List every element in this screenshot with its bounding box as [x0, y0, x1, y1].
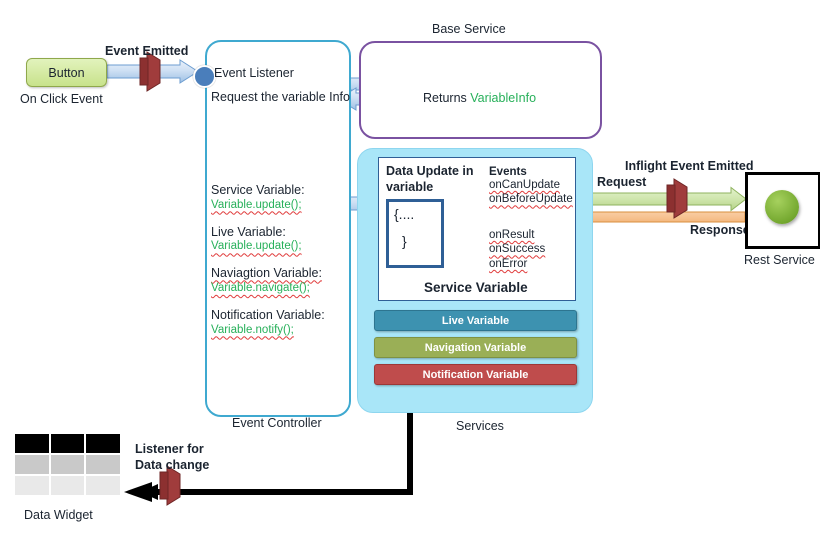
events-post-list: onResult onSuccess onError: [489, 228, 545, 271]
table-row: [51, 434, 85, 453]
returns-prefix: Returns: [423, 91, 470, 105]
list-item: Live Variable: Variable.update();: [211, 225, 325, 253]
on-click-event-label: On Click Event: [20, 92, 103, 108]
event-name: onBeforeUpdate: [489, 192, 573, 206]
request-label: Request: [597, 175, 646, 191]
event-listener-label: Event Listener: [214, 66, 294, 82]
json-open-brace: {....: [394, 206, 414, 224]
rest-service-sphere-icon: [765, 190, 799, 224]
data-update-title: Data Update in variable: [386, 163, 481, 196]
table-row: [15, 434, 49, 453]
variable-code: Variable.update();: [211, 199, 325, 211]
table-row: [86, 434, 120, 453]
event-name: onSuccess: [489, 242, 545, 256]
event-name: onCanUpdate: [489, 178, 573, 192]
json-close-brace: }: [402, 233, 407, 251]
variable-title: Notification Variable:: [211, 308, 325, 324]
table-row: [51, 476, 85, 495]
base-service-returns: Returns VariableInfo: [423, 91, 536, 107]
returns-value: VariableInfo: [470, 91, 536, 105]
variable-title: Live Variable:: [211, 225, 325, 241]
variable-code: Variable.navigate();: [211, 282, 325, 294]
list-item: Service Variable: Variable.update();: [211, 183, 325, 211]
button-widget[interactable]: Button: [26, 58, 107, 87]
event-emitted-label: Event Emitted: [105, 44, 188, 60]
rest-service-caption: Rest Service: [744, 253, 815, 269]
notification-variable-bar[interactable]: Notification Variable: [374, 364, 577, 385]
base-service-title: Base Service: [432, 22, 506, 38]
event-controller-caption: Event Controller: [232, 416, 322, 432]
event-name: onResult: [489, 228, 545, 242]
variable-title: Service Variable:: [211, 183, 325, 199]
variable-code: Variable.update();: [211, 240, 325, 252]
response-label: Response: [690, 223, 750, 239]
event-controller-variable-list: Service Variable: Variable.update(); Liv…: [211, 183, 325, 350]
data-widget-table: [15, 434, 120, 495]
table-row: [15, 455, 49, 474]
table-row: [86, 455, 120, 474]
list-item: Naviagtion Variable: Variable.navigate()…: [211, 266, 325, 294]
navigation-variable-bar[interactable]: Navigation Variable: [374, 337, 577, 358]
event-name: onError: [489, 257, 545, 271]
list-item: Notification Variable: Variable.notify()…: [211, 308, 325, 336]
table-row: [86, 476, 120, 495]
service-variable-caption: Service Variable: [424, 280, 528, 297]
event-listener-dot-icon: [193, 65, 216, 88]
variable-code: Variable.notify();: [211, 324, 325, 336]
live-variable-bar[interactable]: Live Variable: [374, 310, 577, 331]
base-service-container: [359, 41, 602, 139]
megaphone-icon-inflight-event: [667, 179, 687, 218]
request-variable-info-label: Request the variable Info: [211, 90, 350, 106]
services-caption: Services: [456, 419, 504, 435]
table-row: [51, 455, 85, 474]
events-pre-list: onCanUpdate onBeforeUpdate: [489, 178, 573, 207]
table-row: [15, 476, 49, 495]
arrow-button-to-listener: [107, 60, 198, 83]
variable-title: Naviagtion Variable:: [211, 266, 325, 282]
inflight-event-emitted-label: Inflight Event Emitted: [625, 159, 753, 175]
data-widget-caption: Data Widget: [24, 508, 93, 524]
listener-for-data-change-label: Listener for Data change: [135, 441, 209, 474]
